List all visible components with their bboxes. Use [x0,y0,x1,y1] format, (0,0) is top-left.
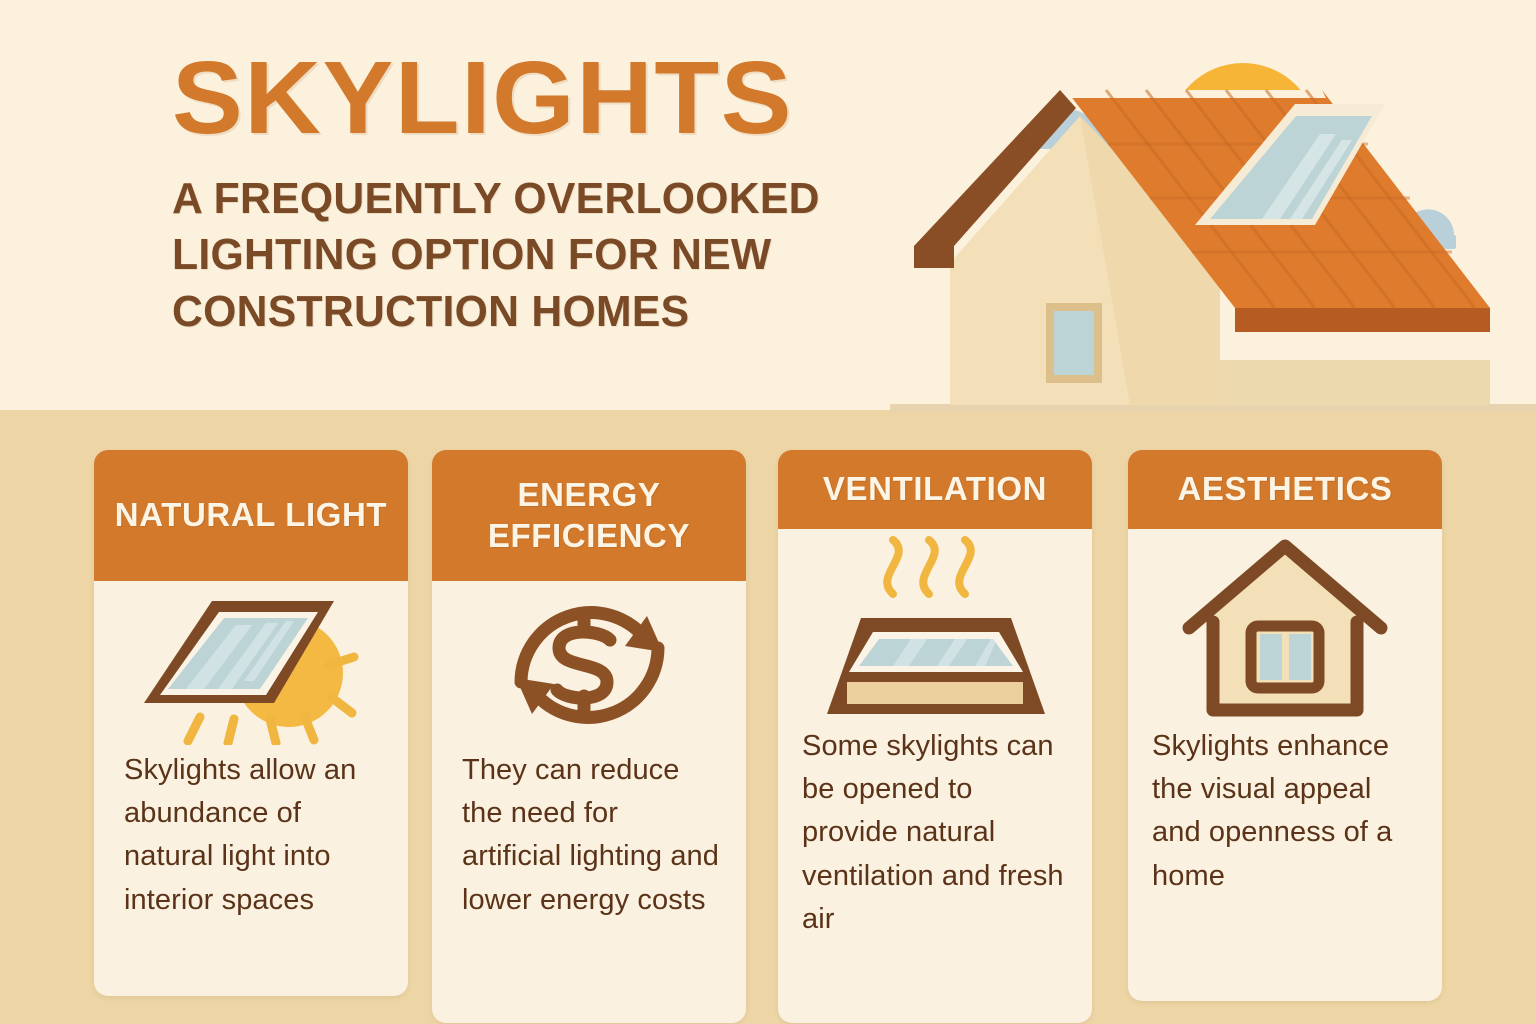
card-title-aesthetics: AESTHETICS [1128,450,1442,529]
card-body-energy-efficiency: They can reduce the need for artificial … [432,749,746,922]
card-aesthetics[interactable]: AESTHETICS Skylights enhance the visu [1128,450,1442,1001]
house-outline-icon [1128,529,1442,725]
card-body-natural-light: Skylights allow an abundance of natural … [94,749,408,922]
dollar-recycle-icon [432,581,746,749]
card-energy-efficiency[interactable]: ENERGY EFFICIENCY [432,450,746,1023]
infographic-canvas: SKYLIGHTS A FREQUENTLY OVERLOOKED LIGHTI… [0,0,1536,1024]
card-natural-light[interactable]: NATURAL LIGHT [94,450,408,996]
card-title-natural-light: NATURAL LIGHT [94,450,408,581]
card-body-ventilation: Some skylights can be opened to provide … [778,725,1092,941]
card-title-ventilation: VENTILATION [778,450,1092,529]
skylight-with-sun-icon [94,581,408,749]
feature-cards: NATURAL LIGHT [0,0,1536,1024]
card-body-aesthetics: Skylights enhance the visual appeal and … [1128,725,1442,898]
venting-skylight-icon [778,529,1092,725]
card-title-energy-efficiency: ENERGY EFFICIENCY [432,450,746,581]
card-ventilation[interactable]: VENTILATION [778,450,1092,1023]
